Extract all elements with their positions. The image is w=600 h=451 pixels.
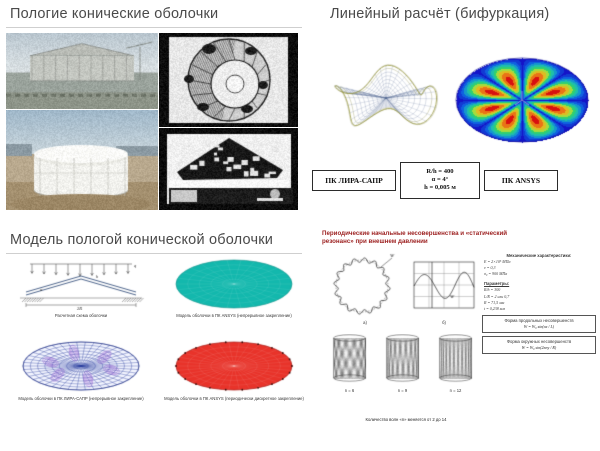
tank-photo-white-tank [6,110,158,210]
page-title-top-right: Линейный расчёт (бифуркация) [330,6,549,22]
wavy-ring-diagram [326,252,404,324]
page-title-bottom-left: Модель пологой конической оболочки [10,232,273,248]
ansys-contour-mode [452,46,592,154]
tank-photo-roof-structure-bw [159,128,298,210]
cylinder-n6 [327,334,372,386]
cylinder-n9-label: n = 9 [380,388,425,394]
software-box-lira: ПК ЛИРА-САПР [312,170,396,191]
tank-photo-conical-roof [6,33,158,109]
title-divider-top-left [6,27,302,28]
parameter-box: R/h = 400 α = 4° h = 0,005 м [400,162,480,199]
circumferential-imperfection-formula: W = W₀ sin(2πny / R) [484,345,594,351]
ansys-discrete-model-figure [167,338,301,394]
photo-grid-tanks [6,33,302,211]
design-scheme-figure [10,258,152,310]
parameter-line-h: h = 0,005 м [424,184,456,192]
cylinder-n9 [380,334,425,386]
cylinder-n12-label: n = 12 [433,388,478,394]
ansys-continuous-model-caption: Модель оболочки в ПК ANSYS (непрерывное … [163,313,305,319]
software-parameter-boxes: ПК ЛИРА-САПР R/h = 400 α = 4° h = 0,005 … [312,162,594,198]
wave-count-caption: Количество волн «n» меняется от 2 до 14 [326,417,486,422]
wavy-ring-label: а) [326,320,404,326]
circumferential-imperfection-formula-box: Форма окружных несовершенств W = W₀ sin(… [482,336,596,354]
imperfection-graph-label: б) [410,320,478,326]
presentation-slide: Пологие конические оболочки Линейный рас… [0,0,600,451]
mech-line-sigma: σ₀ = 900 МПа [484,271,596,277]
ansys-continuous-model-figure [163,258,305,310]
mesh-buckling-mode [322,42,452,152]
imperfection-graph [410,256,478,320]
parameter-line-alpha: α = 4° [432,176,449,184]
cylinder-n12 [433,334,478,386]
lira-continuous-model-caption: Модель оболочки в ПК ЛИРА-САПР (непрерыв… [10,396,152,402]
cylinder-n6-label: n = 6 [327,388,372,394]
title-divider-bottom-left [6,253,302,254]
page-title-bottom-right: Периодические начальные несовершенства и… [322,230,540,247]
software-box-ansys: ПК ANSYS [484,170,558,191]
longitudinal-imperfection-formula: W = W₀ sin(πx / L) [484,324,594,330]
lira-continuous-model-figure [14,338,148,394]
design-scheme-caption: Расчетная схема оболочки [10,313,152,319]
param-line-t: t = 0,238 мм [484,306,596,312]
tank-photo-roof-inside-bw [159,33,298,127]
material-parameters-panel: Механические характеристики: E = 2×10⁵ М… [482,253,596,354]
page-title-top-left: Пологие конические оболочки [10,6,218,22]
longitudinal-imperfection-formula-box: Форма продольных несовершенств W = W₀ si… [482,315,596,333]
parameter-line-rh: R/h = 400 [426,168,453,176]
ansys-discrete-model-caption: Модель оболочки в ПК ANSYS (периодически… [163,396,305,402]
